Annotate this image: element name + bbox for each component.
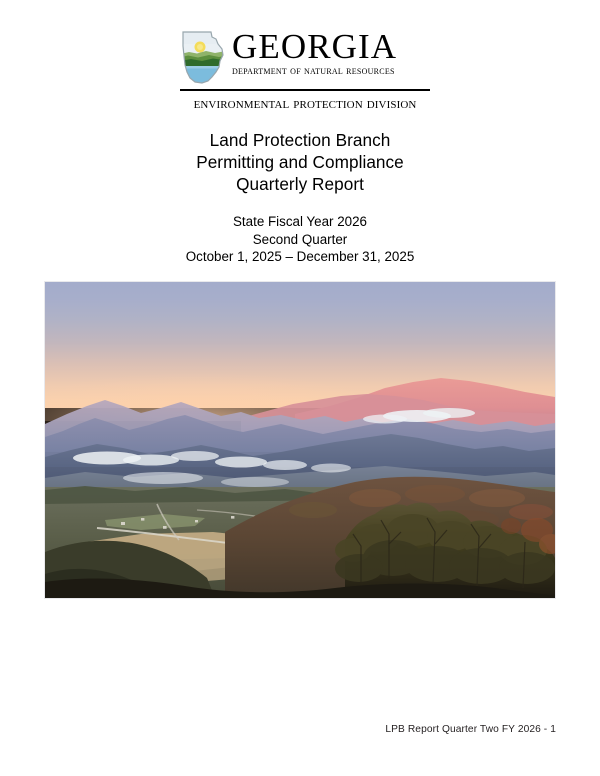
page-title: Land Protection Branch Permitting and Co… [0, 129, 600, 195]
agency-logo: GEORGIA Department of Natural Resources … [180, 28, 430, 113]
logo-division-name: Environmental Protection Division [180, 95, 430, 113]
cover-photograph [45, 282, 555, 598]
title-line-1: Land Protection Branch [0, 129, 600, 151]
subtitle-quarter: Second Quarter [0, 231, 600, 249]
title-line-2: Permitting and Compliance [0, 151, 600, 173]
subtitle-date-range: October 1, 2025 – December 31, 2025 [0, 248, 600, 266]
page-subtitle: State Fiscal Year 2026 Second Quarter Oc… [0, 213, 600, 266]
photo-foreground-trees [45, 282, 555, 598]
cover-page: GEORGIA Department of Natural Resources … [0, 0, 600, 776]
logo-department-name: Department of Natural Resources [232, 65, 430, 77]
logo-wordmark: GEORGIA Department of Natural Resources [232, 28, 430, 77]
logo-agency-name: GEORGIA [232, 30, 430, 64]
footer-page-label: LPB Report Quarter Two FY 2026 - 1 [385, 724, 556, 735]
logo-divider-rule [180, 89, 430, 91]
title-line-3: Quarterly Report [0, 173, 600, 195]
logo-primary-row: GEORGIA Department of Natural Resources [180, 28, 430, 85]
subtitle-fiscal-year: State Fiscal Year 2026 [0, 213, 600, 231]
georgia-state-outline-icon [180, 29, 226, 85]
